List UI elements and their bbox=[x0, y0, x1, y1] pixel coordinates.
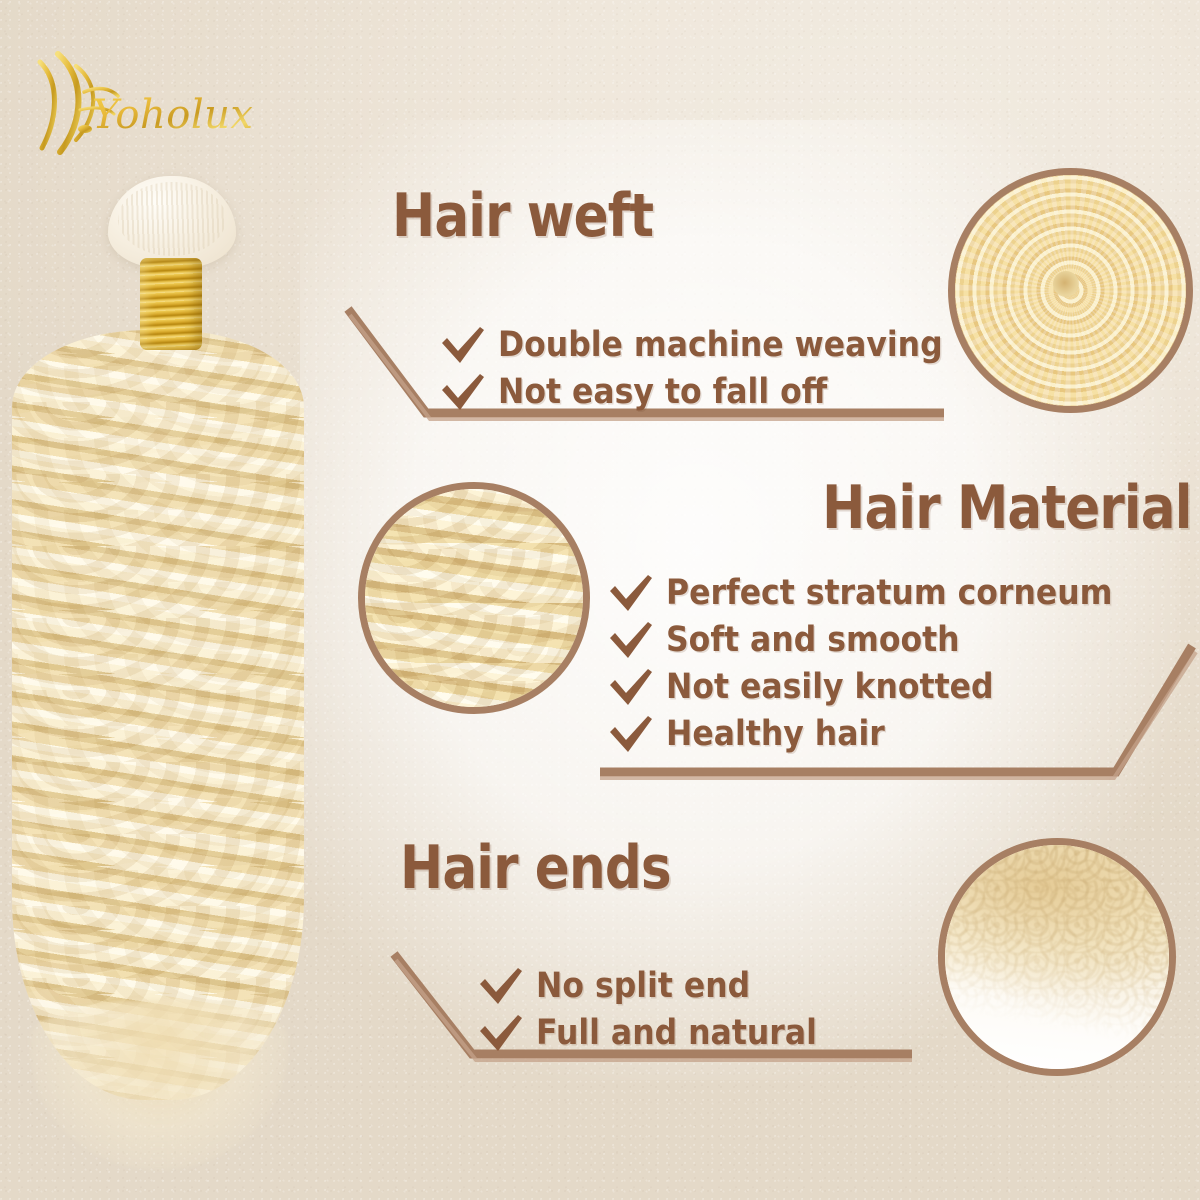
bullet-row: Double machine weaving bbox=[440, 322, 992, 369]
bullet-row: Perfect stratum corneum bbox=[608, 570, 1162, 617]
bullet-label: No split end bbox=[536, 969, 750, 1004]
deep-wave-hair-body bbox=[12, 330, 304, 1100]
bullet-label: Perfect stratum corneum bbox=[666, 576, 1113, 611]
heading-hair-material: Hair Material bbox=[823, 478, 1192, 538]
weft-pad bbox=[108, 176, 236, 268]
bullet-row: Not easily knotted bbox=[608, 664, 1162, 711]
coil-center bbox=[1053, 271, 1079, 297]
bullet-label: Double machine weaving bbox=[498, 328, 943, 363]
product-infographic: Yoholux Hair weft Double machine weaving… bbox=[0, 0, 1200, 1200]
brand-name: Yoholux bbox=[92, 92, 253, 138]
hair-ends-closeup-circle bbox=[938, 838, 1176, 1076]
bullet-label: Not easy to fall off bbox=[498, 375, 827, 410]
check-icon bbox=[478, 967, 524, 1007]
bullet-list-hair-ends: No split end Full and natural bbox=[478, 963, 848, 1057]
bullet-row: Full and natural bbox=[478, 1010, 848, 1057]
heading-hair-ends: Hair ends bbox=[400, 838, 671, 898]
coiled-weft-circle bbox=[948, 168, 1193, 413]
bullet-row: No split end bbox=[478, 963, 848, 1010]
check-icon bbox=[478, 1014, 524, 1054]
check-icon bbox=[608, 715, 654, 755]
bullet-row: Not easy to fall off bbox=[440, 369, 992, 416]
brand-logo[interactable]: Yoholux bbox=[14, 48, 259, 158]
bullet-label: Healthy hair bbox=[666, 717, 885, 752]
hair-bundle-photo bbox=[0, 170, 320, 1100]
check-icon bbox=[608, 574, 654, 614]
bullet-list-hair-weft: Double machine weaving Not easy to fall … bbox=[440, 322, 992, 416]
bullet-label: Not easily knotted bbox=[666, 670, 994, 705]
bullet-list-hair-material: Perfect stratum corneum Soft and smooth … bbox=[608, 570, 1162, 758]
check-icon bbox=[608, 668, 654, 708]
check-icon bbox=[440, 373, 486, 413]
wavy-hair-texture bbox=[359, 483, 589, 713]
bullet-label: Soft and smooth bbox=[666, 623, 960, 658]
hair-ends-texture bbox=[945, 845, 1169, 1069]
wavy-hair-closeup-circle bbox=[358, 482, 590, 714]
hair-tips bbox=[30, 1000, 288, 1170]
check-icon bbox=[440, 326, 486, 366]
check-icon bbox=[608, 621, 654, 661]
bullet-label: Full and natural bbox=[536, 1016, 817, 1051]
gold-thread-wrap bbox=[140, 258, 202, 350]
bullet-row: Healthy hair bbox=[608, 711, 1162, 758]
bullet-row: Soft and smooth bbox=[608, 617, 1162, 664]
heading-hair-weft: Hair weft bbox=[392, 186, 653, 246]
